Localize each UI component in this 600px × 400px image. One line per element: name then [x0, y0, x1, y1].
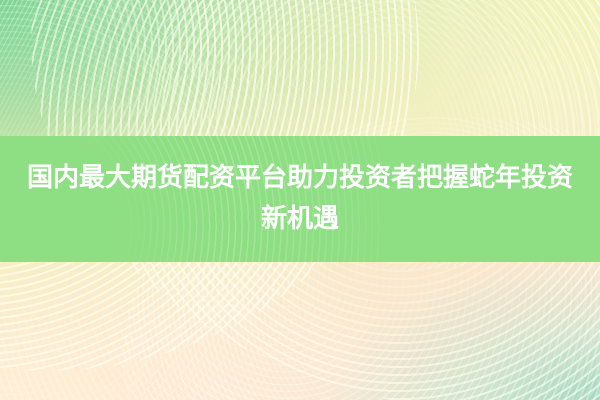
banner-image: 国内最大期货配资平台助力投资者把握蛇年投资新机遇 [0, 0, 600, 400]
title-banner-band: 国内最大期货配资平台助力投资者把握蛇年投资新机遇 [0, 136, 600, 262]
banner-title: 国内最大期货配资平台助力投资者把握蛇年投资新机遇 [22, 158, 578, 240]
